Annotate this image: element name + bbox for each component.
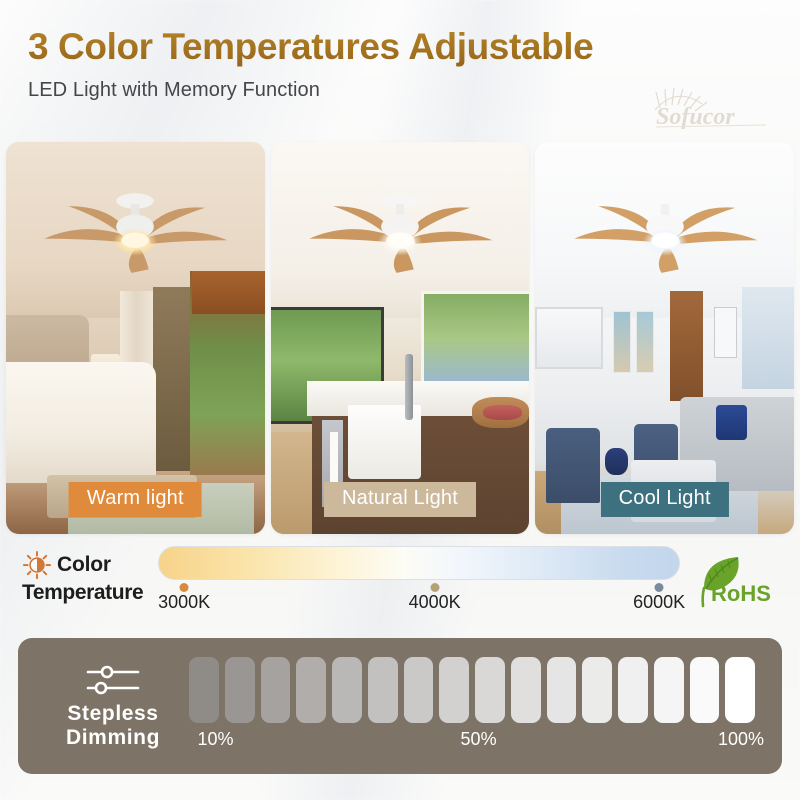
scene-panel-warm[interactable]: Warm light <box>6 142 265 534</box>
temp-dot-6000k <box>655 583 664 592</box>
dimming-label-line1: Stepless <box>40 702 186 726</box>
dimming-bar-13[interactable] <box>618 657 648 723</box>
page-title: 3 Color Temperatures Adjustable <box>28 26 772 68</box>
color-temperature-label-line2: Temperature <box>22 581 150 605</box>
temp-dot-3000k <box>180 583 189 592</box>
dimming-label-block: Stepless Dimming <box>18 663 186 750</box>
ceiling-fan-cool <box>553 158 775 323</box>
temp-label-4000k: 4000K <box>409 592 461 613</box>
stepless-dimming-section: Stepless Dimming 10% 50% 100% <box>18 638 782 774</box>
panel-caption-natural: Natural Light <box>324 482 476 517</box>
color-temperature-labels: 3000K 4000K 6000K <box>158 592 680 614</box>
dimming-bar-7[interactable] <box>404 657 434 723</box>
dimming-labels: 10% 50% 100% <box>186 729 758 755</box>
dimming-bar-11[interactable] <box>547 657 577 723</box>
temp-label-3000k: 3000K <box>158 592 210 613</box>
rohs-text: RoHS <box>711 581 771 606</box>
panel-caption-warm: Warm light <box>69 482 202 517</box>
dimming-bar-9[interactable] <box>475 657 505 723</box>
color-temperature-label-line1: Color <box>57 553 111 577</box>
dimming-label-line2: Dimming <box>40 726 186 750</box>
scene-panel-cool[interactable]: Cool Light <box>535 142 794 534</box>
temp-label-6000k: 6000K <box>633 592 685 613</box>
color-temperature-scale[interactable]: 3000K 4000K 6000K <box>158 546 680 614</box>
dim-label-50: 50% <box>461 729 497 750</box>
dimming-bars[interactable] <box>186 657 758 723</box>
dimming-bar-5[interactable] <box>332 657 362 723</box>
dimming-bar-8[interactable] <box>439 657 469 723</box>
temp-dot-4000k <box>430 583 439 592</box>
ceiling-fan-warm <box>24 158 246 323</box>
sliders-icon <box>82 663 144 697</box>
dimming-bar-4[interactable] <box>296 657 326 723</box>
color-temperature-section: Color Temperature 3000K 4000K 6000K <box>22 546 782 622</box>
scene-panel-natural[interactable]: Natural Light <box>271 142 530 534</box>
panel-caption-cool: Cool Light <box>601 482 729 517</box>
dimming-bar-10[interactable] <box>511 657 541 723</box>
color-temperature-gradient-bar[interactable] <box>158 546 680 580</box>
dimming-bar-2[interactable] <box>225 657 255 723</box>
dimming-bar-16[interactable] <box>725 657 755 723</box>
dimming-bar-3[interactable] <box>261 657 291 723</box>
dim-label-10: 10% <box>197 729 233 750</box>
color-temperature-dots <box>158 580 680 592</box>
ceiling-fan-natural <box>289 158 511 323</box>
dimming-bar-14[interactable] <box>654 657 684 723</box>
sun-icon <box>22 550 52 580</box>
dimming-bar-1[interactable] <box>189 657 219 723</box>
dimming-scale[interactable]: 10% 50% 100% <box>186 657 782 755</box>
rohs-certification-badge: RoHS <box>690 546 782 610</box>
scene-panels: Warm light <box>6 142 794 534</box>
color-temperature-label-block: Color Temperature <box>22 546 150 605</box>
dim-label-100: 100% <box>718 729 764 750</box>
dimming-bar-12[interactable] <box>582 657 612 723</box>
brand-logo: Sofucor <box>642 78 774 130</box>
dimming-bar-6[interactable] <box>368 657 398 723</box>
dimming-bar-15[interactable] <box>690 657 720 723</box>
